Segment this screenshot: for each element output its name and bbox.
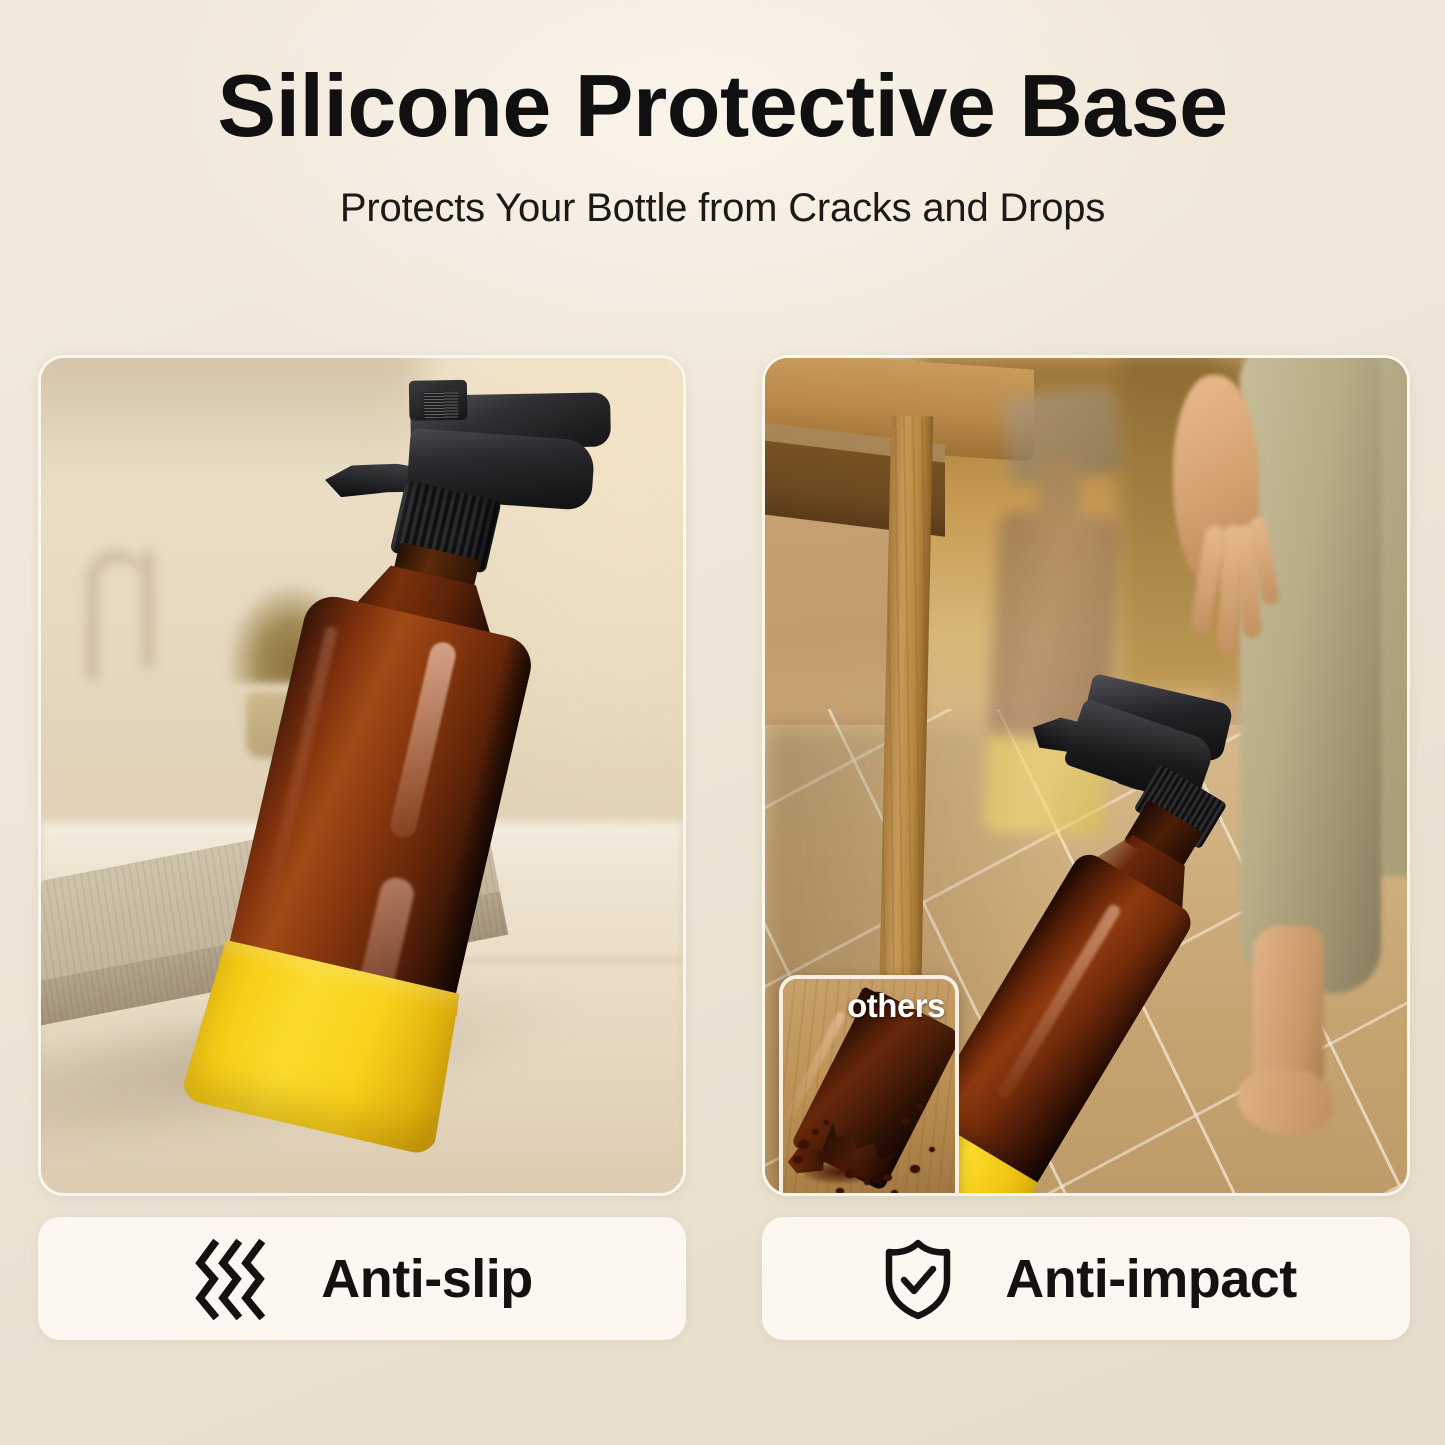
drop-scene: others [765,358,1407,1193]
zigzag-lines-icon [191,1236,277,1322]
caption-card-anti-slip: Anti-slip [38,1217,686,1340]
kitchen-scene [41,358,683,1193]
header: Silicone Protective Base Protects Your B… [0,62,1445,231]
inset-others: others [779,975,959,1196]
page-title: Silicone Protective Base [0,62,1445,150]
photo-anti-impact: others [762,355,1410,1196]
feature-panel-anti-impact: others Anti-impact [762,355,1410,1340]
inset-spill-drop [845,1170,855,1178]
inset-spill-drop [891,1190,898,1196]
page-subtitle: Protects Your Bottle from Cracks and Dro… [0,186,1445,231]
feature-panels: Anti-slip [0,355,1445,1340]
faucet-stem [141,550,155,668]
inset-spill-drop [817,1152,830,1162]
caption-card-anti-impact: Anti-impact [762,1217,1410,1340]
inset-spill-drop [883,1174,892,1181]
sprayer-nozzle-grill [424,392,458,419]
faucet-icon [86,550,146,680]
caption-label-anti-slip: Anti-slip [321,1248,532,1310]
photo-anti-slip [38,355,686,1196]
inset-spill-drop [917,1104,923,1109]
inset-spill-drop [812,1129,819,1135]
inset-spill-drop [864,1179,870,1185]
caption-label-anti-impact: Anti-impact [1005,1248,1297,1310]
shield-check-icon [875,1236,961,1322]
feature-panel-anti-slip: Anti-slip [38,355,686,1340]
inset-label-others: others [847,987,945,1025]
